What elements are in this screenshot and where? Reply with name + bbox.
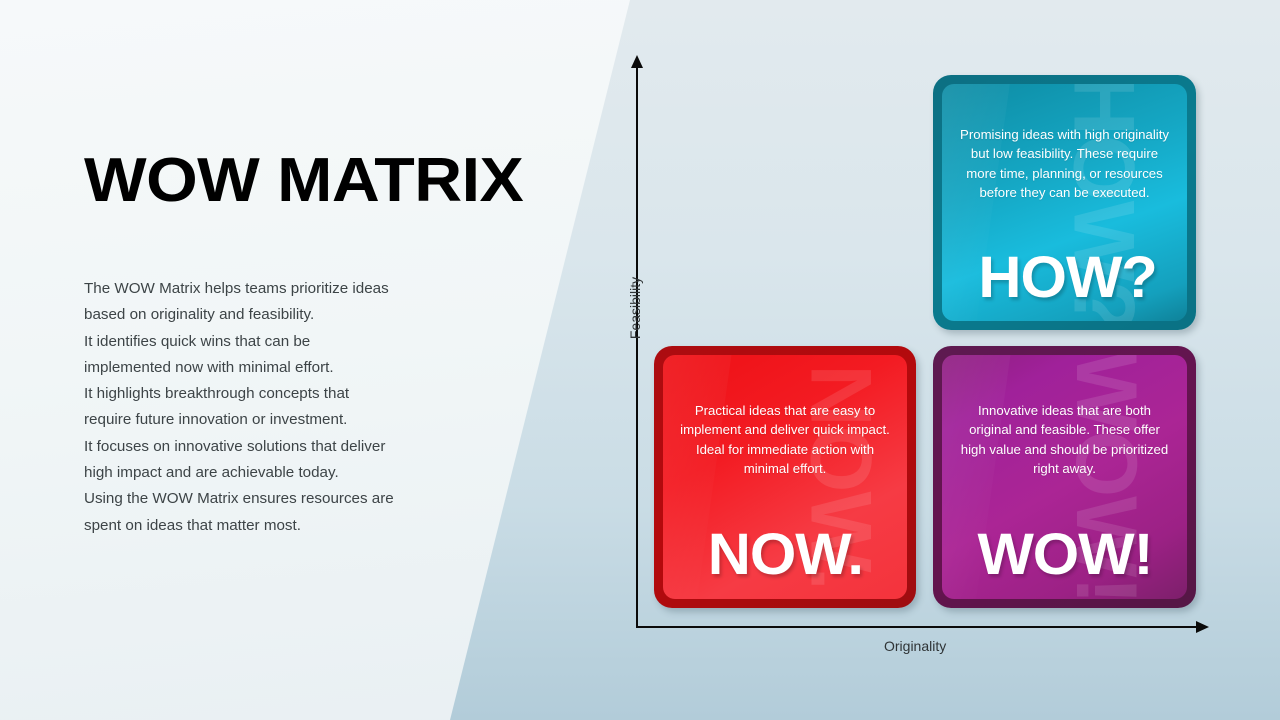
x-axis-arrow-icon: [1196, 621, 1209, 633]
y-axis-label: Feasibility: [627, 277, 643, 339]
description-line: spent on ideas that matter most.: [84, 513, 464, 539]
description-line: based on originality and feasibility.: [84, 302, 464, 328]
quadrant-card-wow[interactable]: WOW! Innovative ideas that are both orig…: [933, 346, 1196, 608]
left-content-column: WOW MATRIX The WOW Matrix helps teams pr…: [84, 150, 464, 539]
x-axis-line: [636, 626, 1203, 628]
y-axis-arrow-icon: [631, 55, 643, 68]
description-line: Using the WOW Matrix ensures resources a…: [84, 486, 464, 512]
description-line: high impact and are achievable today.: [84, 460, 464, 486]
quadrant-card-now-inner: NOW. Practical ideas that are easy to im…: [663, 355, 907, 599]
quadrant-description-how: Promising ideas with high originality bu…: [942, 125, 1187, 203]
quadrant-card-how[interactable]: HOW? Promising ideas with high originali…: [933, 75, 1196, 330]
page-title: WOW MATRIX: [84, 150, 491, 212]
description-line: It highlights breakthrough concepts that: [84, 381, 464, 407]
description-text-block: The WOW Matrix helps teams prioritize id…: [84, 276, 464, 539]
slide-canvas: WOW MATRIX The WOW Matrix helps teams pr…: [0, 0, 1280, 720]
quadrant-heading-how: HOW?: [978, 249, 1156, 307]
description-line: It focuses on innovative solutions that …: [84, 434, 464, 460]
quadrant-description-wow: Innovative ideas that are both original …: [942, 401, 1187, 479]
description-line: It identifies quick wins that can be: [84, 329, 464, 355]
quadrant-card-how-inner: HOW? Promising ideas with high originali…: [942, 84, 1187, 321]
y-axis-line: [636, 62, 638, 628]
description-line: The WOW Matrix helps teams prioritize id…: [84, 276, 464, 302]
quadrant-description-now: Practical ideas that are easy to impleme…: [663, 401, 907, 479]
quadrant-card-wow-inner: WOW! Innovative ideas that are both orig…: [942, 355, 1187, 599]
quadrant-heading-wow: WOW!: [977, 526, 1152, 584]
description-line: require future innovation or investment.: [84, 407, 464, 433]
description-line: implemented now with minimal effort.: [84, 355, 464, 381]
quadrant-card-now[interactable]: NOW. Practical ideas that are easy to im…: [654, 346, 916, 608]
x-axis-label: Originality: [884, 638, 946, 654]
quadrant-heading-now: NOW.: [707, 526, 862, 584]
